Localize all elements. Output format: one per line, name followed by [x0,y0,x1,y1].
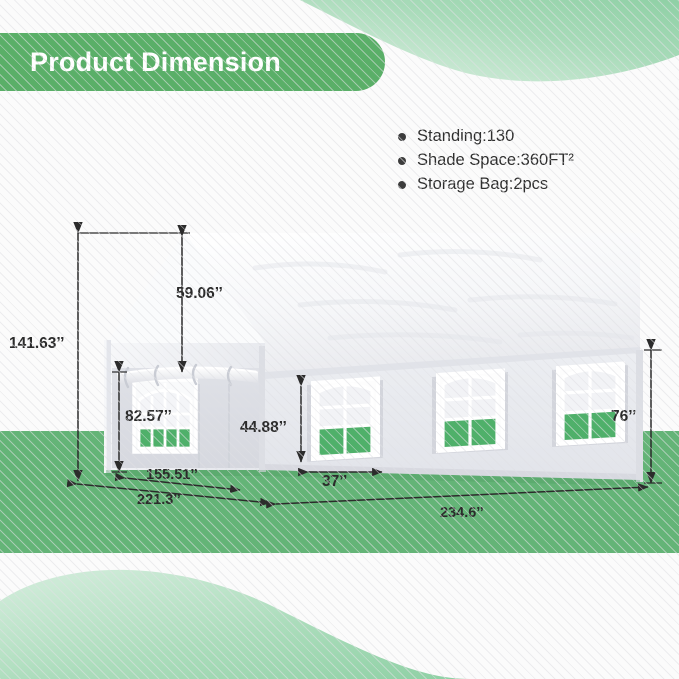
dim-label-eave-height: 76’’ [611,408,636,426]
dim-label-overall-length: 234.6’’ [440,505,484,521]
dim-label-overall-height: 141.63’’ [9,335,64,353]
dim-label-window-width: 37’’ [322,473,347,491]
product-dimension-infographic: Product Dimension Standing:130 Shade Spa… [0,0,679,679]
dim-label-door-height: 82.57’’ [125,408,172,426]
dimension-label-group: 141.63’’ 59.06’’ 82.57’’ 44.88’’ 37’’ 76… [0,0,679,679]
dim-label-window-height: 44.88’’ [240,419,287,437]
dim-label-roof-height: 59.06’’ [176,285,223,303]
dim-label-gable-width: 221.3’’ [137,492,181,508]
dim-label-door-width: 155.51’’ [146,467,198,483]
